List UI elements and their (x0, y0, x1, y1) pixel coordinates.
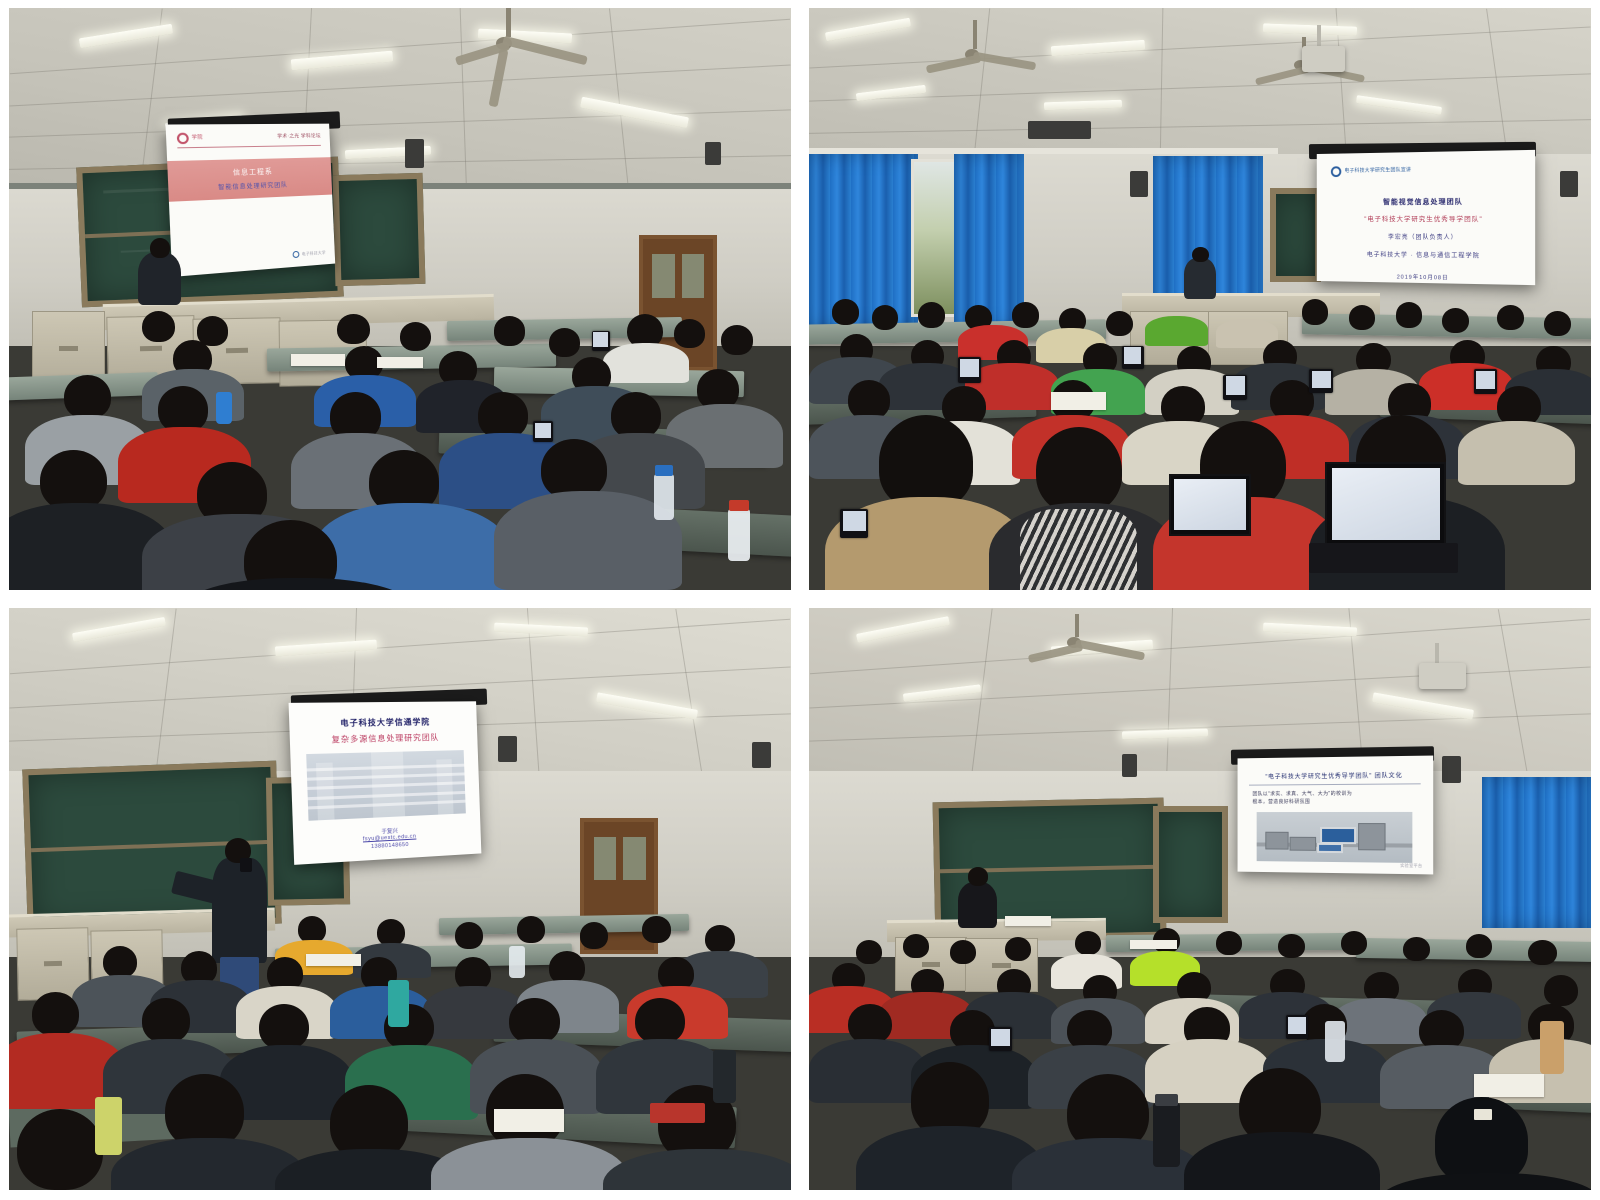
student-torso-foreground (1380, 1173, 1591, 1190)
student-head (1396, 302, 1423, 328)
student-head (478, 392, 528, 439)
panel-top-left: 学院 学术·之光 学科论坛 信息工程系 智能信息处理研究团队 电子科技大学 (9, 8, 791, 590)
wall-speaker (1130, 171, 1149, 197)
presenter-body (958, 882, 997, 929)
student-shoulder (1458, 421, 1575, 485)
slide-subtitle: 复杂多源信息处理研究团队 (302, 732, 467, 746)
microphone (240, 858, 253, 872)
student-head (337, 314, 370, 344)
wall-speaker (1442, 756, 1461, 782)
student-head (721, 325, 754, 355)
wall-speaker (1122, 754, 1138, 777)
logo-mark-icon (1332, 167, 1342, 178)
slide-heading: "电子科技大学研究生优秀导学团队" 团队文化 (1249, 770, 1421, 781)
bottle-cap (1155, 1094, 1178, 1106)
window-curtain (954, 154, 1024, 329)
student-head (1544, 975, 1578, 1006)
campus-building-photo (307, 750, 466, 822)
slide-presenter: 李宏亮（团队负责人） (1329, 232, 1521, 242)
student-shoulder (314, 503, 510, 590)
paper-sheet (377, 357, 424, 367)
slide-content: 电子科技大学研究生团队宣讲 智能视觉信息处理团队 "电子科技大学研究生优秀导学团… (1317, 150, 1535, 285)
notebook (1474, 1074, 1544, 1097)
smartphone[interactable] (1474, 369, 1497, 395)
paper-sheet (291, 354, 346, 366)
slide-header-text: 电子科技大学研究生团队宣讲 (1345, 168, 1412, 175)
slide-band-line1: 信息工程系 (174, 165, 325, 180)
slide-title: 智能视觉信息处理团队 (1329, 196, 1521, 207)
student-head (1341, 931, 1368, 955)
student-head-foreground (1036, 427, 1122, 514)
water-bottle (1325, 1021, 1345, 1062)
pencil-case (650, 1103, 705, 1123)
smartphone[interactable] (1309, 369, 1332, 393)
bottle-cap (729, 500, 749, 512)
student-torso-foreground (1184, 1132, 1380, 1190)
smartphone[interactable] (592, 331, 611, 351)
student-head (903, 934, 930, 958)
student-head (1075, 931, 1102, 955)
slide-content: "电子科技大学研究生优秀导学团队" 团队文化 团队以"求实、求真、大气、大为"的… (1238, 756, 1433, 875)
student-head (142, 311, 175, 342)
student-head (142, 998, 190, 1043)
slide-footer-watermark: 实验室平台 (1400, 862, 1422, 868)
door-window (682, 254, 705, 298)
student-head (832, 299, 859, 325)
wall-speaker (1028, 121, 1091, 138)
wall-speaker (1560, 171, 1579, 197)
student-head (635, 998, 685, 1045)
student-head (400, 322, 431, 351)
laboratory-photo (1256, 812, 1412, 862)
ceiling-fan-rod (973, 20, 977, 49)
photo-collage: 学院 学术·之光 学科论坛 信息工程系 智能信息处理研究团队 电子科技大学 (0, 0, 1600, 1200)
footer-logo-icon (292, 252, 299, 259)
paper-sheet (306, 954, 361, 966)
student-head (674, 319, 705, 348)
paper-sheet (1130, 940, 1177, 949)
student-head (32, 992, 79, 1036)
student-head (1349, 305, 1376, 331)
student-head (705, 925, 735, 953)
student-head (103, 946, 137, 979)
wall-speaker (498, 736, 517, 762)
student-head (1442, 308, 1469, 334)
projection-screen: 电子科技大学研究生团队宣讲 智能视觉信息处理团队 "电子科技大学研究生优秀导学团… (1317, 150, 1535, 285)
student-head (1005, 937, 1032, 961)
slide-content: 电子科技大学信通学院 复杂多源信息处理研究团队 于复兴 fsyu@uestc.e… (289, 702, 482, 866)
smartphone[interactable] (958, 357, 981, 383)
student-head (580, 922, 608, 949)
water-bottle (95, 1097, 122, 1155)
panel-top-right: 电子科技大学研究生团队宣讲 智能视觉信息处理团队 "电子科技大学研究生优秀导学团… (809, 8, 1591, 590)
blackboard-right-wing (1153, 806, 1228, 923)
projection-screen: 电子科技大学信通学院 复杂多源信息处理研究团队 于复兴 fsyu@uestc.e… (289, 702, 482, 866)
laptop-keyboard[interactable] (1309, 543, 1458, 572)
slide-contact-block: 于复兴 fsyu@uestc.edu.cn 13880148650 (293, 823, 481, 855)
student-head (1012, 302, 1039, 328)
presenter-body (1184, 258, 1215, 299)
smartphone[interactable] (840, 509, 868, 538)
smartphone[interactable] (989, 1027, 1012, 1051)
thermos-bottle (1153, 1103, 1180, 1167)
student-head (1497, 305, 1524, 331)
student-head (950, 940, 977, 964)
student-head (455, 922, 483, 949)
student-head (848, 380, 890, 420)
thermos-bottle (713, 1050, 736, 1102)
podium-paper (1005, 916, 1052, 925)
ceiling-fan-rod (1075, 614, 1079, 637)
slide-band-line2: 智能信息处理研究团队 (175, 179, 326, 194)
slide-pink-band: 信息工程系 智能信息处理研究团队 (167, 157, 332, 202)
student-torso-foreground (603, 1149, 791, 1190)
student-head (1216, 931, 1243, 955)
student-head (1528, 940, 1556, 966)
student-head (918, 302, 945, 328)
scarf-pattern (1020, 509, 1137, 590)
smartphone[interactable] (1286, 1015, 1308, 1038)
thermos-bottle (388, 980, 408, 1027)
presenter-head (1192, 247, 1208, 263)
presenter-body (212, 858, 267, 963)
blackboard-right-wing (333, 173, 426, 286)
student-torso-foreground (431, 1138, 627, 1190)
student-head (259, 1004, 309, 1051)
slide-body-line2: 根本，营造良好科研氛围 (1253, 798, 1417, 807)
student-head (509, 998, 559, 1045)
projector (1419, 663, 1466, 689)
door-window (594, 837, 617, 881)
student-head (494, 316, 525, 345)
smartphone[interactable] (1223, 375, 1246, 401)
student-head (642, 916, 670, 943)
student-head (1302, 299, 1329, 325)
projector (1302, 46, 1345, 72)
ceiling-fan-rod (506, 8, 511, 37)
slide-title: 电子科技大学信通学院 (301, 716, 466, 730)
student-head (611, 392, 661, 439)
presenter-head (968, 867, 988, 886)
water-bottle (728, 509, 750, 561)
water-bottle (216, 392, 232, 424)
smartphone[interactable] (1122, 346, 1144, 369)
thermos-bottle (1540, 1021, 1563, 1073)
notebook (1051, 392, 1106, 409)
student-head (1106, 311, 1133, 337)
student-head (64, 375, 111, 419)
student-shoulder (1333, 998, 1427, 1045)
student-head (158, 386, 208, 433)
student-head (1544, 311, 1571, 337)
slide-content: 学院 学术·之光 学科论坛 信息工程系 智能信息处理研究团队 电子科技大学 (165, 124, 335, 277)
slide-footer-watermark: 电子科技大学 (301, 250, 325, 258)
door-window (652, 254, 675, 298)
wall-speaker (752, 742, 771, 768)
slide-logo: 电子科技大学研究生团队宣讲 (1332, 166, 1412, 178)
student-head-foreground (879, 415, 973, 508)
student-head (1403, 937, 1430, 961)
cap-logo-icon (1474, 1109, 1493, 1121)
slide-subtitle: "电子科技大学研究生优秀导学团队" (1329, 213, 1521, 223)
slide-logo: 学院 (176, 133, 203, 145)
water-bottle (509, 946, 525, 978)
window-curtain (1482, 777, 1591, 928)
student-head (856, 940, 883, 964)
water-bottle (654, 474, 674, 521)
window-curtain (809, 154, 918, 329)
student-head (872, 305, 899, 331)
student-head (549, 328, 580, 357)
door-window (623, 837, 646, 881)
presenter-head (150, 238, 170, 258)
presenter-body (138, 252, 181, 304)
notebook (494, 1109, 564, 1132)
projection-screen: "电子科技大学研究生优秀导学团队" 团队文化 团队以"求实、求真、大气、大为"的… (1238, 756, 1433, 875)
student-shoulder (809, 1039, 926, 1103)
blackboard (1270, 188, 1321, 281)
wall-speaker (705, 142, 721, 165)
wall-speaker (405, 139, 425, 168)
laptop-screen[interactable] (1169, 474, 1251, 536)
panel-bottom-right: "电子科技大学研究生优秀导学团队" 团队文化 团队以"求实、求真、大气、大为"的… (809, 608, 1591, 1190)
student-head-foreground (17, 1109, 103, 1190)
slide-affiliation: 电子科技大学 · 信息与通信工程学院 (1329, 249, 1521, 260)
student-shoulder (1145, 316, 1208, 345)
projection-screen: 学院 学术·之光 学科论坛 信息工程系 智能信息处理研究团队 电子科技大学 (165, 124, 335, 277)
slide-date: 2019年10月08日 (1329, 271, 1521, 282)
slide-header-right: 学术·之光 学科论坛 (277, 135, 321, 141)
laptop-screen[interactable] (1325, 462, 1446, 547)
bottle-cap (655, 465, 673, 477)
student-shoulder (603, 343, 689, 384)
panel-bottom-left: 电子科技大学信通学院 复杂多源信息处理研究团队 于复兴 fsyu@uestc.e… (9, 608, 791, 1190)
logo-mark-icon (176, 133, 188, 145)
student-head (517, 916, 545, 943)
student-head (1278, 934, 1305, 958)
student-head (1466, 934, 1493, 958)
curtain-rail (809, 148, 1278, 154)
smartphone[interactable] (533, 421, 553, 442)
slide-logo-text: 学院 (191, 136, 202, 142)
